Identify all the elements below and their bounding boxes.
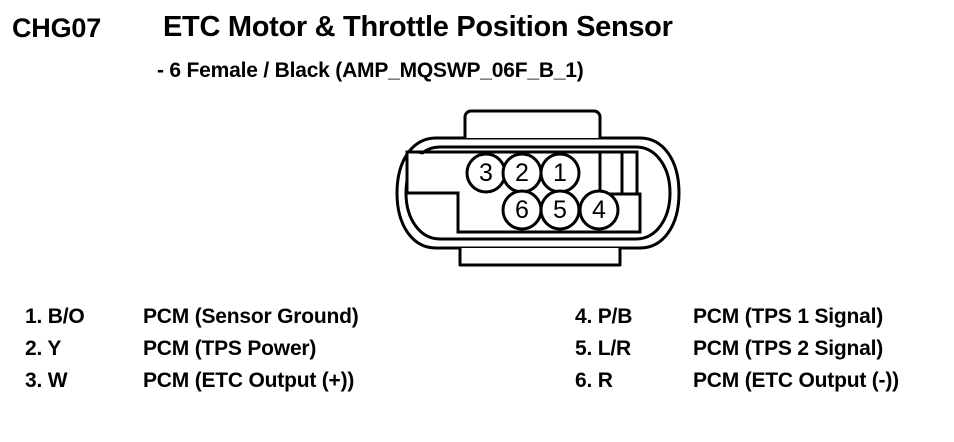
connector-subtitle: - 6 Female / Black (AMP_MQSWP_06F_B_1): [157, 59, 584, 83]
connector-diagram: 3 2 1 6 5 4: [388, 108, 688, 288]
connector-bottom-tab: [460, 248, 620, 265]
legend-pin-label: 6. R: [575, 369, 613, 393]
pin-number-5: 5: [553, 196, 567, 224]
legend-pin-label: 4. P/B: [575, 305, 632, 329]
connector-code: CHG07: [12, 13, 101, 44]
legend-pin-description: PCM (TPS 1 Signal): [693, 305, 883, 329]
pin-number-2: 2: [515, 159, 529, 187]
legend-pin-description: PCM (Sensor Ground): [143, 305, 359, 329]
legend-pin-description: PCM (ETC Output (-)): [693, 369, 899, 393]
connector-top-tab: [465, 111, 600, 138]
pin-number-1: 1: [553, 159, 567, 187]
pin-number-6: 6: [515, 196, 529, 224]
legend-pin-label: 3. W: [25, 369, 67, 393]
legend-pin-label: 2. Y: [25, 337, 61, 361]
legend-pin-label: 5. L/R: [575, 337, 631, 361]
connector-svg: 3 2 1 6 5 4: [388, 108, 688, 288]
legend-pin-label: 1. B/O: [25, 305, 84, 329]
pin-number-3: 3: [479, 159, 493, 187]
page-title: ETC Motor & Throttle Position Sensor: [163, 11, 673, 44]
pin-number-4: 4: [592, 196, 606, 224]
legend-pin-description: PCM (TPS Power): [143, 337, 316, 361]
header: CHG07 ETC Motor & Throttle Position Sens…: [0, 0, 954, 100]
pin-legend: 1. B/O PCM (Sensor Ground) 2. Y PCM (TPS…: [0, 305, 954, 415]
legend-pin-description: PCM (ETC Output (+)): [143, 369, 354, 393]
legend-pin-description: PCM (TPS 2 Signal): [693, 337, 883, 361]
